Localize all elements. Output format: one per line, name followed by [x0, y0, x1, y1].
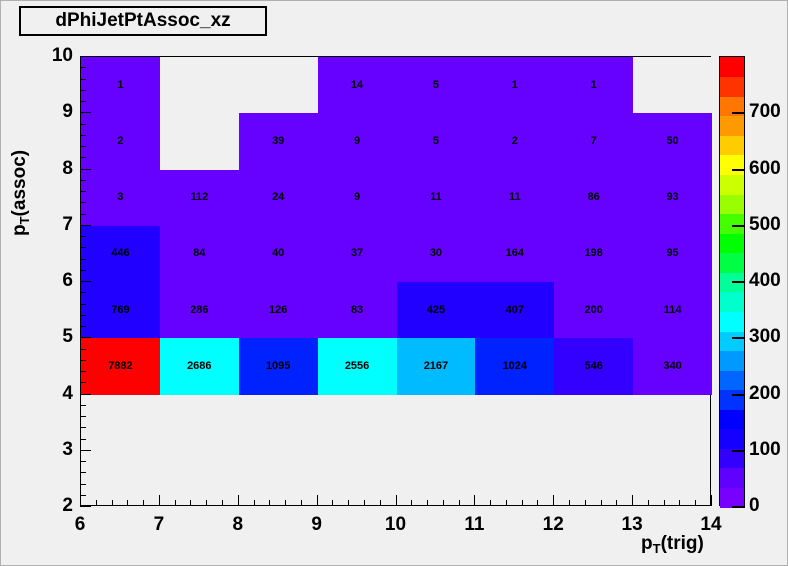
y-axis-minor-tick [80, 191, 86, 192]
heatmap-cell: 86 [554, 170, 633, 226]
x-axis-minor-tick [348, 500, 349, 506]
x-axis-major-tick [632, 495, 633, 506]
x-axis-minor-tick [411, 500, 412, 506]
x-axis-tick-label: 13 [622, 514, 643, 536]
heatmap-cell: 1 [81, 57, 160, 113]
x-axis-minor-tick [175, 500, 176, 506]
heatmap-cell: 769 [81, 282, 160, 338]
x-axis-minor-tick [616, 500, 617, 506]
x-axis-tick-label: 8 [232, 514, 243, 536]
heatmap-cell-value: 2 [117, 136, 123, 147]
heatmap-cell: 2 [81, 113, 160, 169]
page-title: dPhiJetPtAssoc_xz [55, 10, 230, 32]
y-axis-minor-tick [80, 202, 86, 203]
heatmap-cell-value: 112 [190, 192, 208, 203]
heatmap-cell: 40 [239, 226, 318, 282]
heatmap-cell-value: 407 [506, 305, 524, 316]
y-axis-minor-tick [80, 79, 86, 80]
y-axis-title-tail: (assoc) [9, 150, 30, 217]
y-axis-title: pT(assoc) [9, 150, 32, 236]
x-axis-title-sub: T [653, 541, 661, 556]
x-axis-title: pT(trig) [641, 533, 704, 556]
heatmap-cell: 7882 [81, 338, 160, 394]
color-scale-tick-label: 100 [749, 439, 781, 461]
y-axis-minor-tick [80, 304, 86, 305]
y-axis-minor-tick [80, 146, 86, 147]
x-axis-minor-tick [364, 500, 365, 506]
heatmap-cell: 5 [397, 113, 476, 169]
y-axis-minor-tick [80, 292, 86, 293]
heatmap-cell-value: 93 [666, 192, 678, 203]
color-scale-band [720, 370, 744, 390]
y-axis-minor-tick [80, 214, 86, 215]
color-scale-tick-label: 600 [749, 158, 781, 180]
heatmap-cell-value: 11 [430, 192, 442, 203]
x-axis-major-tick [474, 495, 475, 506]
color-scale-band [720, 57, 744, 77]
x-axis-minor-tick [269, 500, 270, 506]
root-canvas: dPhiJetPtAssoc_xz pT(assoc) pT(trig) 114… [0, 0, 788, 566]
color-scale-band [720, 233, 744, 253]
y-axis-minor-tick [80, 67, 86, 68]
y-axis-minor-tick [80, 326, 86, 327]
x-axis-minor-tick [332, 500, 333, 506]
y-axis-major-tick [80, 112, 91, 113]
color-scale-tick-label: 300 [749, 326, 781, 348]
heatmap-cell: 340 [633, 338, 712, 394]
heatmap-cell-value: 425 [427, 305, 445, 316]
y-axis-minor-tick [80, 371, 86, 372]
heatmap-cell-value: 126 [269, 305, 287, 316]
y-axis-tick-label: 7 [62, 214, 73, 236]
x-axis-minor-tick [285, 500, 286, 506]
heatmap-cell: 1095 [239, 338, 318, 394]
y-axis-minor-tick [80, 259, 86, 260]
x-axis-major-tick [553, 495, 554, 506]
x-axis-major-tick [159, 495, 160, 506]
color-scale-tick-label: 400 [749, 270, 781, 292]
x-axis-minor-tick [96, 500, 97, 506]
heatmap-cell: 2686 [160, 338, 239, 394]
heatmap-cell-value: 30 [430, 248, 442, 259]
heatmap-cell-value: 7882 [108, 361, 132, 372]
heatmap-cell: 112 [160, 170, 239, 226]
heatmap-cell: 546 [554, 338, 633, 394]
heatmap-cell-value: 200 [585, 305, 603, 316]
heatmap-cell-value: 9 [354, 136, 360, 147]
x-axis-tick-label: 14 [700, 514, 721, 536]
heatmap-cell: 39 [239, 113, 318, 169]
color-scale-tick-label: 700 [749, 101, 781, 123]
heatmap-cell-value: 769 [111, 305, 129, 316]
heatmap-cell: 114 [633, 282, 712, 338]
color-scale-band [720, 135, 744, 155]
heatmap-cell: 83 [318, 282, 397, 338]
heatmap-cell-value: 37 [351, 248, 363, 259]
color-scale-tick-label: 500 [749, 214, 781, 236]
heatmap-cell-value: 3 [117, 192, 123, 203]
heatmap-cell-value: 546 [585, 361, 603, 372]
color-scale-band [720, 409, 744, 429]
x-axis-minor-tick [679, 500, 680, 506]
y-axis-minor-tick [80, 157, 86, 158]
heatmap-cell-value: 95 [666, 248, 678, 259]
heatmap-cell-value: 114 [664, 305, 682, 316]
color-scale-tick [732, 337, 745, 339]
x-axis-minor-tick [537, 500, 538, 506]
heatmap-cell-value: 1 [512, 80, 518, 91]
x-axis-minor-tick [490, 500, 491, 506]
heatmap-cell-value: 9 [354, 192, 360, 203]
heatmap-cell: 11 [397, 170, 476, 226]
x-axis-major-tick [238, 495, 239, 506]
color-scale-band [720, 214, 744, 234]
heatmap-cell-value: 83 [351, 305, 363, 316]
heatmap-cell-value: 24 [272, 192, 284, 203]
y-axis-tick-label: 4 [62, 383, 73, 405]
heatmap-cell: 1 [475, 57, 554, 113]
color-scale-tick [732, 506, 745, 508]
color-scale-band [720, 487, 744, 507]
x-axis-minor-tick [664, 500, 665, 506]
heatmap-cell: 286 [160, 282, 239, 338]
y-axis-minor-tick [80, 427, 86, 428]
heatmap-cell-value: 2 [512, 136, 518, 147]
y-axis-minor-tick [80, 315, 86, 316]
x-axis-major-tick [317, 495, 318, 506]
x-axis-tick-label: 7 [154, 514, 165, 536]
heatmap-cell-value: 164 [506, 248, 524, 259]
x-axis-minor-tick [695, 500, 696, 506]
heatmap-cell: 95 [633, 226, 712, 282]
heatmap-cell: 24 [239, 170, 318, 226]
y-axis-minor-tick [80, 472, 86, 473]
heatmap-cell: 50 [633, 113, 712, 169]
y-axis-title-sub: T [17, 216, 32, 224]
histogram-title-box: dPhiJetPtAssoc_xz [19, 6, 267, 36]
x-axis-major-tick [80, 495, 81, 506]
color-scale-band [720, 174, 744, 194]
heatmap-cell: 11 [475, 170, 554, 226]
y-axis-tick-label: 5 [62, 326, 73, 348]
heatmap-cell: 198 [554, 226, 633, 282]
color-scale-tick [732, 112, 745, 114]
color-scale-band [720, 253, 744, 273]
heatmap-cell: 30 [397, 226, 476, 282]
heatmap-cell-empty [633, 57, 712, 113]
y-axis-minor-tick [80, 135, 86, 136]
color-scale-tick-label: 0 [749, 495, 760, 517]
y-axis-major-tick [80, 56, 91, 57]
color-scale-band [720, 292, 744, 312]
heatmap-cell: 2 [475, 113, 554, 169]
y-axis-tick-label: 8 [62, 158, 73, 180]
y-axis-minor-tick [80, 461, 86, 462]
x-axis-minor-tick [143, 500, 144, 506]
heatmap-cell: 2167 [397, 338, 476, 394]
x-axis-minor-tick [380, 500, 381, 506]
heatmap-cell: 425 [397, 282, 476, 338]
heatmap-cell: 164 [475, 226, 554, 282]
x-axis-minor-tick [190, 500, 191, 506]
y-axis-minor-tick [80, 405, 86, 406]
x-axis-minor-tick [522, 500, 523, 506]
heatmap-cell: 84 [160, 226, 239, 282]
heatmap-cell-value: 5 [433, 80, 439, 91]
y-axis-title-main: p [9, 224, 30, 236]
heatmap-cell: 3 [81, 170, 160, 226]
color-scale-band [720, 331, 744, 351]
x-axis-minor-tick [206, 500, 207, 506]
y-axis-major-tick [80, 281, 91, 282]
x-axis-minor-tick [648, 500, 649, 506]
x-axis-tick-label: 11 [464, 514, 484, 536]
heatmap-cell: 407 [475, 282, 554, 338]
heatmap-cell-value: 5 [433, 136, 439, 147]
color-scale-tick [732, 450, 745, 452]
heatmap-cell: 9 [318, 170, 397, 226]
x-axis-minor-tick [301, 500, 302, 506]
heatmap-cell: 1024 [475, 338, 554, 394]
x-axis-minor-tick [254, 500, 255, 506]
x-axis-minor-tick [222, 500, 223, 506]
x-axis-tick-label: 10 [385, 514, 406, 536]
x-axis-minor-tick [427, 500, 428, 506]
color-scale-band [720, 468, 744, 488]
y-axis-minor-tick [80, 439, 86, 440]
heatmap-cell-value: 1024 [503, 361, 527, 372]
y-axis-minor-tick [80, 180, 86, 181]
y-axis-tick-label: 10 [52, 45, 73, 67]
heatmap-cell-value: 40 [272, 248, 284, 259]
heatmap-cell-value: 446 [111, 248, 129, 259]
y-axis-major-tick [80, 169, 91, 170]
y-axis-major-tick [80, 337, 91, 338]
color-scale-band [720, 429, 744, 449]
x-axis-tick-label: 12 [543, 514, 564, 536]
x-axis-minor-tick [569, 500, 570, 506]
y-axis-tick-label: 6 [62, 270, 73, 292]
color-scale-tick [732, 169, 745, 171]
heatmap-cell: 9 [318, 113, 397, 169]
color-scale-tick [732, 225, 745, 227]
heatmap-cell: 5 [397, 57, 476, 113]
y-axis-major-tick [80, 394, 91, 395]
heatmap-cell-empty [239, 57, 318, 113]
heatmap-cell-value: 84 [193, 248, 205, 259]
color-scale-band [720, 116, 744, 136]
x-axis-minor-tick [443, 500, 444, 506]
y-axis-minor-tick [80, 90, 86, 91]
y-axis-minor-tick [80, 484, 86, 485]
heatmap-cell-empty [160, 113, 239, 169]
heatmap-cell-value: 39 [272, 136, 284, 147]
y-axis-minor-tick [80, 101, 86, 102]
y-axis-minor-tick [80, 236, 86, 237]
plot-frame: 1145112399527503112249111186934468440373… [80, 56, 711, 506]
x-axis-major-tick [711, 495, 712, 506]
y-axis-minor-tick [80, 124, 86, 125]
heatmap-cell-value: 86 [588, 192, 600, 203]
heatmap-cell-value: 286 [190, 305, 208, 316]
color-scale-band [720, 350, 744, 370]
heatmap-cell-value: 2167 [424, 361, 448, 372]
y-axis-tick-label: 9 [62, 101, 73, 123]
x-axis-minor-tick [459, 500, 460, 506]
heatmap-cell-empty [160, 57, 239, 113]
x-axis-tick-label: 9 [311, 514, 322, 536]
y-axis-minor-tick [80, 360, 86, 361]
color-scale-tick [732, 281, 745, 283]
x-axis-minor-tick [506, 500, 507, 506]
x-axis-minor-tick [127, 500, 128, 506]
x-axis-minor-tick [112, 500, 113, 506]
heatmap-cell: 126 [239, 282, 318, 338]
heatmap-cell-value: 1095 [266, 361, 290, 372]
color-scale-tick [732, 394, 745, 396]
x-axis-title-main: p [641, 533, 653, 554]
heatmap-cell: 14 [318, 57, 397, 113]
y-axis-tick-label: 2 [62, 495, 73, 517]
y-axis-major-tick [80, 450, 91, 451]
color-scale-tick-label: 200 [749, 383, 781, 405]
heatmap-cell: 37 [318, 226, 397, 282]
y-axis-minor-tick [80, 270, 86, 271]
heatmap-cell-value: 2556 [345, 361, 369, 372]
y-axis-minor-tick [80, 416, 86, 417]
heatmap-cell: 446 [81, 226, 160, 282]
heatmap-cell: 200 [554, 282, 633, 338]
color-scale-band [720, 77, 744, 97]
heatmap-cell-value: 14 [351, 80, 363, 91]
heatmap-cell: 1 [554, 57, 633, 113]
heatmap-cell-value: 2686 [187, 361, 211, 372]
y-axis-tick-label: 3 [62, 439, 73, 461]
heatmap-cell-value: 11 [509, 192, 521, 203]
x-axis-tick-label: 6 [75, 514, 86, 536]
x-axis-title-tail: (trig) [661, 533, 704, 554]
x-axis-major-tick [396, 495, 397, 506]
x-axis-minor-tick [585, 500, 586, 506]
y-axis-minor-tick [80, 382, 86, 383]
x-axis-minor-tick [601, 500, 602, 506]
heatmap-cell-value: 1 [117, 80, 123, 91]
color-scale-band [720, 311, 744, 331]
color-scale-band [720, 155, 744, 175]
heatmap-cell: 93 [633, 170, 712, 226]
color-scale-band [720, 194, 744, 214]
heatmap-cell: 7 [554, 113, 633, 169]
y-axis-major-tick [80, 506, 91, 507]
heatmap-cell-value: 198 [585, 248, 603, 259]
y-axis-minor-tick [80, 247, 86, 248]
heatmap-cell-value: 7 [591, 136, 597, 147]
heatmap-cell: 2556 [318, 338, 397, 394]
heatmap-cell-value: 1 [591, 80, 597, 91]
y-axis-minor-tick [80, 495, 86, 496]
y-axis-minor-tick [80, 349, 86, 350]
heatmap-cells: 1145112399527503112249111186934468440373… [81, 57, 710, 505]
heatmap-cell-value: 50 [666, 136, 678, 147]
y-axis-major-tick [80, 225, 91, 226]
heatmap-cell-value: 340 [663, 361, 681, 372]
